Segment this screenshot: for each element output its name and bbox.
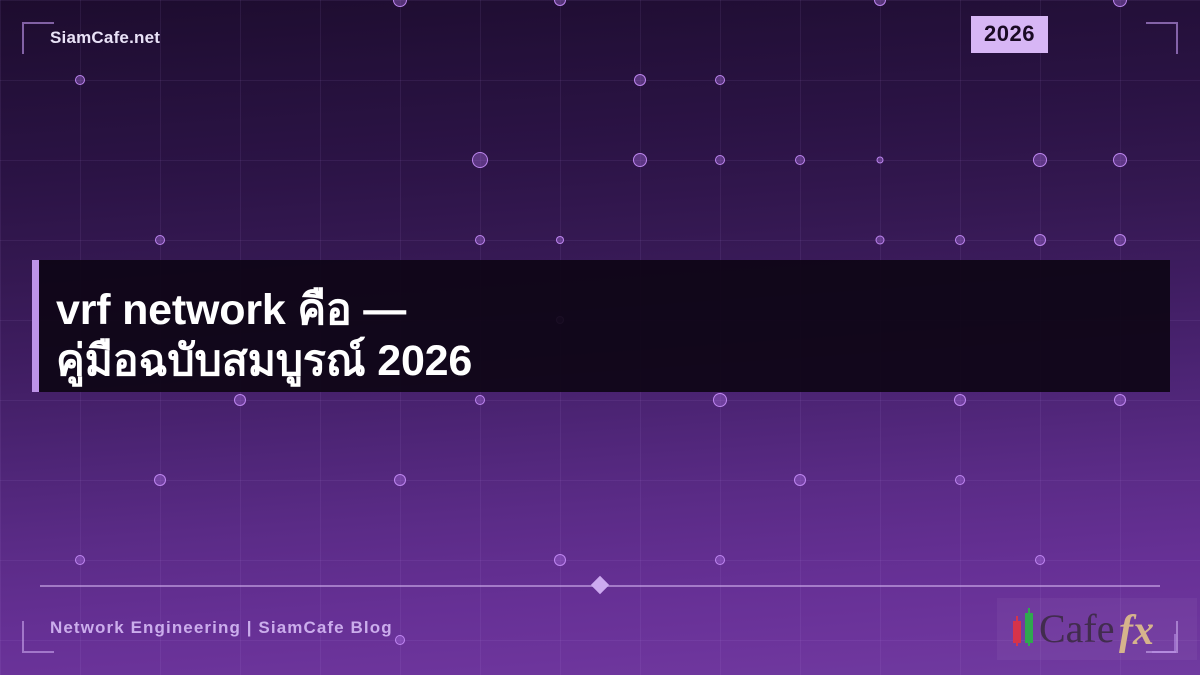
background-node-dot [633, 153, 647, 167]
background-node-dot [234, 394, 246, 406]
background-node-dot [556, 236, 564, 244]
background-node-dot [154, 474, 166, 486]
background-node-dot [75, 75, 85, 85]
background-node-dot [394, 474, 406, 486]
candlestick-chart-icon [1013, 608, 1033, 646]
background-node-dot [955, 235, 965, 245]
background-node-dot [713, 393, 727, 407]
background-node-dot [955, 475, 965, 485]
page-title: vrf network คือ — คู่มือฉบับสมบูรณ์ 2026 [56, 285, 1146, 387]
background-node-dot [554, 554, 566, 566]
cafefx-logo-icon: Cafe fx [997, 598, 1197, 660]
cover-banner: SiamCafe.net 2026 vrf network คือ — คู่ม… [0, 0, 1200, 675]
background-node-dot [1114, 394, 1126, 406]
background-node-dot [472, 152, 488, 168]
background-node-dot [1035, 555, 1045, 565]
background-node-dot [393, 0, 407, 7]
year-badge: 2026 [971, 16, 1048, 53]
background-node-dot [634, 74, 646, 86]
background-node-dot [715, 75, 725, 85]
background-node-dot [475, 235, 485, 245]
background-node-dot [395, 635, 405, 645]
background-node-dot [1033, 153, 1047, 167]
brand-logo-cafefx: Cafe fx [997, 598, 1197, 660]
background-node-dot [794, 474, 806, 486]
background-node-dot [554, 0, 566, 6]
background-node-dot [1034, 234, 1046, 246]
background-node-dot [795, 155, 805, 165]
background-node-dot [75, 555, 85, 565]
background-node-dot [715, 155, 725, 165]
corner-bracket-top-right-icon [1146, 22, 1178, 54]
background-node-dot [1114, 234, 1126, 246]
logo-corner-bracket-icon [1152, 634, 1175, 652]
background-node-dot [877, 157, 884, 164]
background-node-dot [874, 0, 886, 6]
background-node-dot [876, 236, 885, 245]
background-node-dot [475, 395, 485, 405]
footer-category-label: Network Engineering | SiamCafe Blog [50, 615, 393, 641]
background-node-dot [954, 394, 966, 406]
background-node-dot [1113, 153, 1127, 167]
diamond-marker-icon [591, 576, 609, 594]
background-node-dot [1113, 0, 1127, 7]
background-node-dot [155, 235, 165, 245]
background-node-dot [715, 555, 725, 565]
title-accent-bar [32, 260, 39, 392]
logo-word-cafe: Cafe [1039, 606, 1115, 651]
site-name: SiamCafe.net [50, 25, 160, 51]
logo-word-fx: fx [1119, 608, 1154, 654]
